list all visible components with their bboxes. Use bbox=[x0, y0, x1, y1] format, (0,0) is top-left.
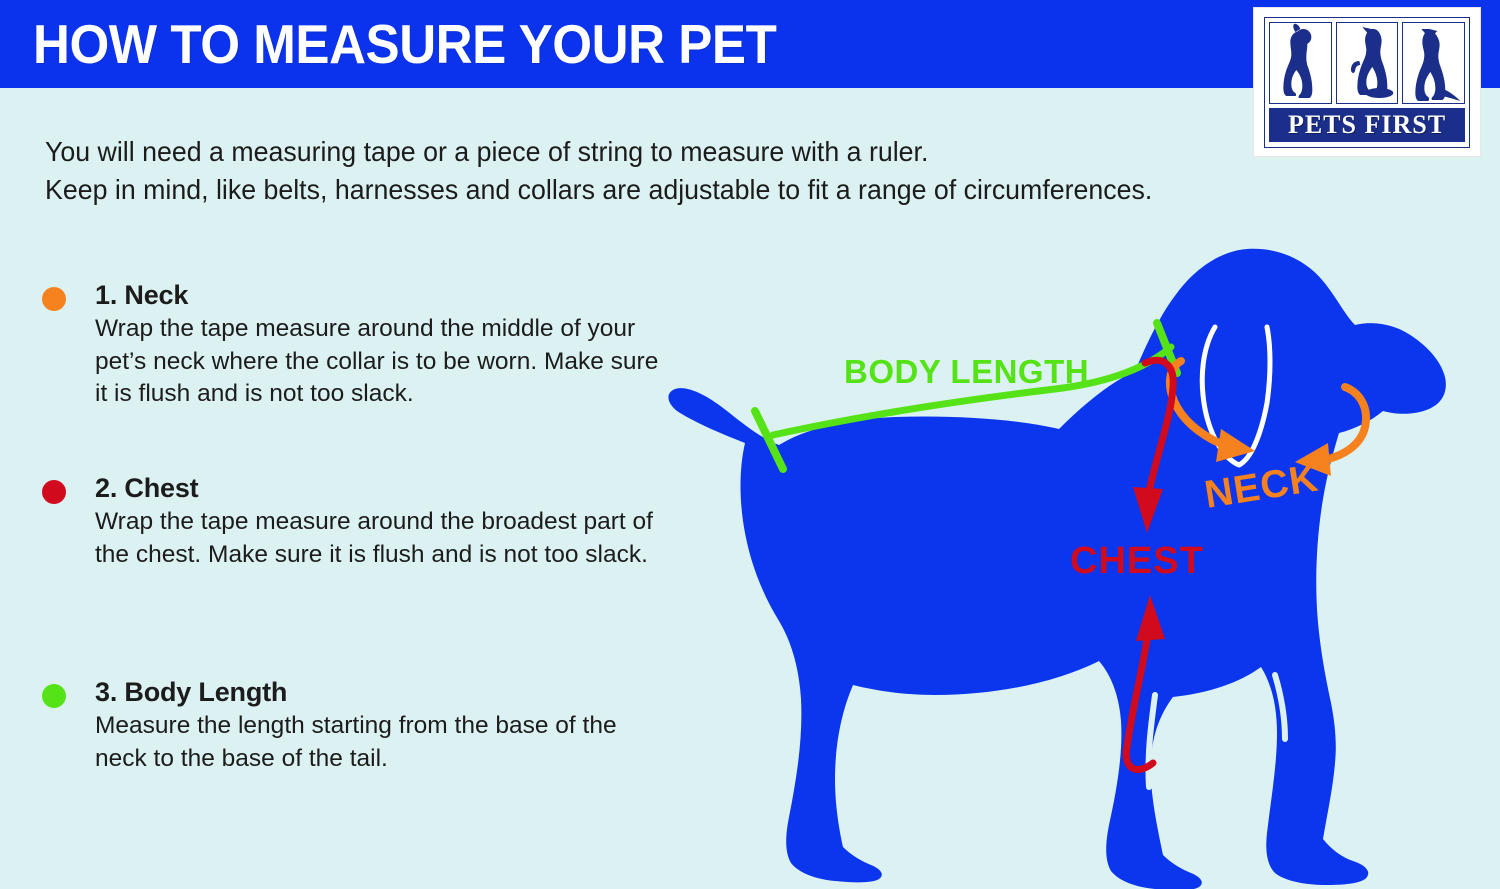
logo-frame: PETS FIRST bbox=[1264, 17, 1470, 148]
logo-panels bbox=[1269, 22, 1465, 104]
step-description-body-length: Measure the length starting from the bas… bbox=[95, 710, 670, 775]
infographic-page: HOW TO MEASURE YOUR PET bbox=[0, 0, 1500, 889]
dog-silhouette-shape bbox=[668, 249, 1445, 889]
dog-measurement-diagram: BODY LENGTH NECK CHEST bbox=[655, 243, 1500, 889]
step-item-body-length: 3. Body Length Measure the length starti… bbox=[42, 675, 662, 775]
bullet-body-length bbox=[42, 684, 66, 708]
step-description-neck: Wrap the tape measure around the middle … bbox=[95, 313, 670, 411]
logo-panel-2 bbox=[1336, 22, 1399, 104]
intro-text: You will need a measuring tape or a piec… bbox=[45, 133, 1277, 209]
label-body-length: BODY LENGTH bbox=[844, 353, 1089, 390]
page-title: HOW TO MEASURE YOUR PET bbox=[33, 13, 776, 75]
step-item-neck: 1. Neck Wrap the tape measure around the… bbox=[42, 278, 662, 411]
step-title-neck: 1. Neck bbox=[95, 278, 662, 312]
step-item-chest: 2. Chest Wrap the tape measure around th… bbox=[42, 471, 662, 571]
label-chest: CHEST bbox=[1070, 540, 1204, 582]
logo-panel-1 bbox=[1269, 22, 1332, 104]
intro-line-2: Keep in mind, like belts, harnesses and … bbox=[45, 171, 1277, 209]
step-description-chest: Wrap the tape measure around the broades… bbox=[95, 506, 670, 571]
intro-line-1: You will need a measuring tape or a piec… bbox=[45, 133, 1277, 171]
logo-wordmark: PETS FIRST bbox=[1269, 108, 1465, 142]
brand-logo: PETS FIRST bbox=[1254, 8, 1480, 156]
bullet-neck bbox=[42, 287, 66, 311]
bullet-chest bbox=[42, 480, 66, 504]
step-title-body-length: 3. Body Length bbox=[95, 675, 662, 709]
step-title-chest: 2. Chest bbox=[95, 471, 662, 505]
logo-panel-3 bbox=[1402, 22, 1465, 104]
